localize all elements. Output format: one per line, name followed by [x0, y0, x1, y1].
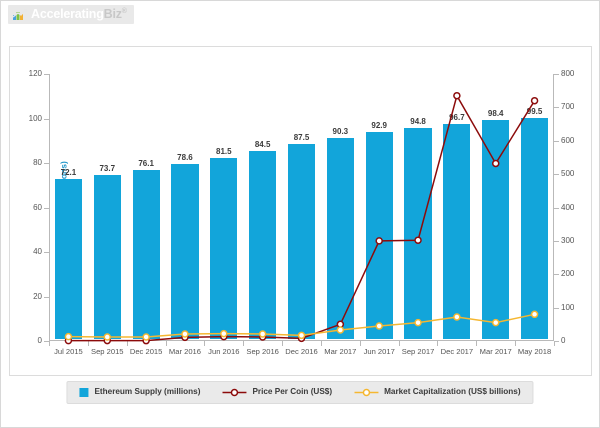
y-axis-left-tick-label: 40 [33, 248, 42, 256]
x-axis-tick-label: Mar 2016 [169, 348, 201, 356]
y-axis-right-tick-label: 300 [561, 237, 574, 245]
bar[interactable] [443, 124, 470, 339]
y-axis-left-spine [49, 74, 50, 341]
x-axis-tick [127, 341, 128, 346]
bar[interactable] [210, 158, 237, 339]
x-axis-tick [399, 341, 400, 346]
y-axis-right-tick [554, 74, 559, 75]
x-axis-tick [49, 341, 50, 346]
x-axis-tick [282, 341, 283, 346]
legend-line-marker-icon [222, 388, 246, 397]
x-axis-tick-label: Dec 2015 [130, 348, 163, 356]
line-data-point[interactable] [532, 98, 538, 104]
x-axis-tick [204, 341, 205, 346]
bar-value-label: 81.5 [216, 148, 232, 156]
legend-item[interactable]: Price Per Coin (US$) [222, 388, 332, 397]
y-axis-left-tick [44, 119, 49, 120]
legend-label: Ethereum Supply (millions) [94, 388, 200, 396]
x-axis-tick-label: Sep 2015 [91, 348, 124, 356]
x-axis-tick-label: Sep 2016 [246, 348, 279, 356]
bar[interactable] [171, 164, 198, 339]
bar[interactable] [55, 179, 82, 339]
y-axis-right-tick-label: 600 [561, 137, 574, 145]
bar[interactable] [94, 175, 121, 339]
y-axis-right-tick-label: 200 [561, 270, 574, 278]
y-axis-right-tick-label: 0 [561, 337, 565, 345]
y-axis-left-tick [44, 297, 49, 298]
bar-value-label: 99.5 [527, 108, 543, 116]
legend-item[interactable]: Ethereum Supply (millions) [79, 388, 200, 397]
y-axis-left-tick [44, 208, 49, 209]
bar[interactable] [404, 128, 431, 339]
y-axis-right-tick-label: 400 [561, 204, 574, 212]
x-axis-tick [166, 341, 167, 346]
y-axis-right-tick [554, 141, 559, 142]
x-axis-tick-label: May 2018 [518, 348, 551, 356]
y-axis-left-tick [44, 252, 49, 253]
chart-arrow-icon [12, 8, 27, 21]
x-axis-tick [360, 341, 361, 346]
y-axis-right-tick [554, 107, 559, 108]
bar-value-label: 87.5 [294, 134, 310, 142]
brand-name-primary: Accelerating [31, 7, 104, 21]
y-axis-right-tick-label: 800 [561, 70, 574, 78]
x-axis-tick-label: Dec 2016 [285, 348, 318, 356]
x-axis-tick-label: Mar 2017 [480, 348, 512, 356]
y-axis-left-tick-label: 0 [38, 337, 42, 345]
y-axis-left-tick-label: 60 [33, 204, 42, 212]
bar[interactable] [288, 144, 315, 339]
y-axis-right-tick [554, 208, 559, 209]
x-axis-tick-label: Sep 2017 [402, 348, 435, 356]
y-axis-right-tick [554, 308, 559, 309]
x-axis-spine [49, 340, 554, 341]
plot-area: Ether supply (millions) Market Capitaliz… [49, 74, 554, 340]
bar-value-label: 90.3 [333, 128, 349, 136]
y-axis-left-tick-label: 120 [29, 70, 42, 78]
y-axis-right-tick [554, 174, 559, 175]
bar-value-label: 92.9 [371, 122, 387, 130]
bar[interactable] [366, 132, 393, 339]
brand-logo: AcceleratingBiz® [8, 5, 134, 24]
bar-value-label: 96.7 [449, 114, 465, 122]
bar-value-label: 84.5 [255, 141, 271, 149]
y-axis-left-tick [44, 74, 49, 75]
x-axis-tick-label: Jul 2015 [54, 348, 83, 356]
line-data-point[interactable] [454, 93, 460, 99]
bar-value-label: 94.8 [410, 118, 426, 126]
bar-value-label: 73.7 [99, 165, 115, 173]
y-axis-right-tick-label: 500 [561, 170, 574, 178]
bar[interactable] [521, 118, 548, 339]
x-axis-tick [88, 341, 89, 346]
x-axis-tick [321, 341, 322, 346]
x-axis-tick-label: Jun 2017 [364, 348, 395, 356]
bar-value-label: 98.4 [488, 110, 504, 118]
x-axis-tick-label: Jun 2016 [208, 348, 239, 356]
y-axis-left-tick-label: 100 [29, 115, 42, 123]
bar[interactable] [249, 151, 276, 339]
bar-value-label: 76.1 [138, 160, 154, 168]
x-axis-tick-label: Dec 2017 [441, 348, 474, 356]
y-axis-right-tick [554, 241, 559, 242]
legend-item[interactable]: Market Capitalization (US$ billions) [354, 388, 520, 397]
x-axis-tick [515, 341, 516, 346]
bar[interactable] [133, 170, 160, 339]
bar[interactable] [482, 120, 509, 339]
brand-name-secondary: Biz [104, 7, 122, 21]
x-axis-tick [476, 341, 477, 346]
y-axis-right-tick [554, 274, 559, 275]
y-axis-left-tick-label: 20 [33, 293, 42, 301]
chart-legend: Ethereum Supply (millions)Price Per Coin… [66, 381, 533, 404]
legend-line-marker-icon [354, 388, 378, 397]
y-axis-right-tick-label: 700 [561, 103, 574, 111]
registered-mark: ® [122, 8, 127, 15]
y-axis-left-tick-label: 80 [33, 159, 42, 167]
x-axis-tick [554, 341, 555, 346]
bar-value-label: 72.1 [61, 169, 77, 177]
chart-container: Ether supply (millions) Market Capitaliz… [9, 46, 592, 376]
legend-label: Price Per Coin (US$) [252, 388, 332, 396]
y-axis-left-tick [44, 163, 49, 164]
legend-label: Market Capitalization (US$ billions) [384, 388, 520, 396]
y-axis-right-tick-label: 100 [561, 304, 574, 312]
x-axis-tick [437, 341, 438, 346]
bar[interactable] [327, 138, 354, 339]
x-axis-tick [243, 341, 244, 346]
chart-page: AcceleratingBiz® Ether supply (millions)… [0, 0, 600, 428]
brand-name: AcceleratingBiz® [31, 8, 127, 21]
x-axis-tick-label: Mar 2017 [324, 348, 356, 356]
bar-value-label: 78.6 [177, 154, 193, 162]
legend-square-icon [79, 388, 88, 397]
